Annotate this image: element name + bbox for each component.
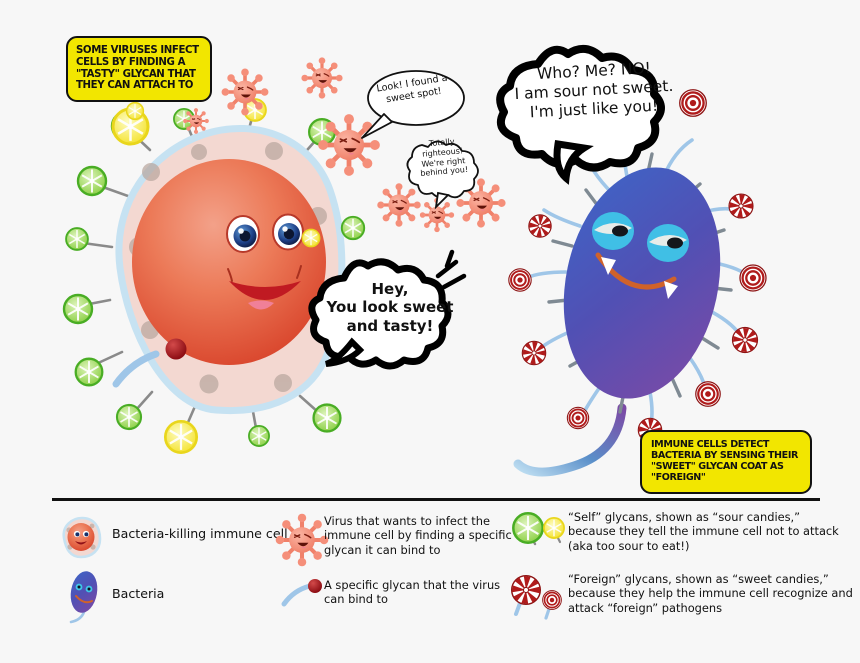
legend-label-glycan-dot: A specific glycan that the virus can bin… [324, 578, 524, 607]
caption-immune-detection: Immune cells detect bacteria by sensing … [640, 430, 812, 494]
bacteria-icon [64, 568, 104, 624]
legend-label-sweet-candy: “Foreign” glycans, shown as “sweet candi… [568, 572, 860, 615]
immune-cell-figure [83, 118, 346, 428]
cell-speech-line3: and tasty! [324, 317, 456, 335]
legend-label-virus: Virus that wants to infect the immune ce… [324, 514, 524, 557]
immune-cell-icon [58, 514, 104, 560]
legend-label-sour-candy: “Self” glycans, shown as “sour candies,”… [568, 510, 848, 553]
cell-speech-line2: You look sweet [324, 298, 456, 316]
bacteria-body [543, 153, 740, 413]
cell-speech-line1: Hey, [324, 280, 456, 298]
cell-body [132, 159, 326, 365]
legend: Bacteria-killing immune cell Bacteria Vi… [52, 498, 822, 648]
sweet-candy-icon [504, 570, 576, 626]
legend-label-bacteria: Bacteria [112, 586, 262, 602]
virus-icon [274, 512, 330, 568]
glycan-dot-icon [280, 578, 328, 612]
sour-candy-icon [508, 508, 574, 554]
caption-virus-infection: Some viruses infect cells by finding a "… [66, 36, 212, 102]
legend-divider [52, 498, 820, 501]
illustration-canvas: Hey, You look sweet and tasty! Who? Me? … [0, 0, 860, 663]
